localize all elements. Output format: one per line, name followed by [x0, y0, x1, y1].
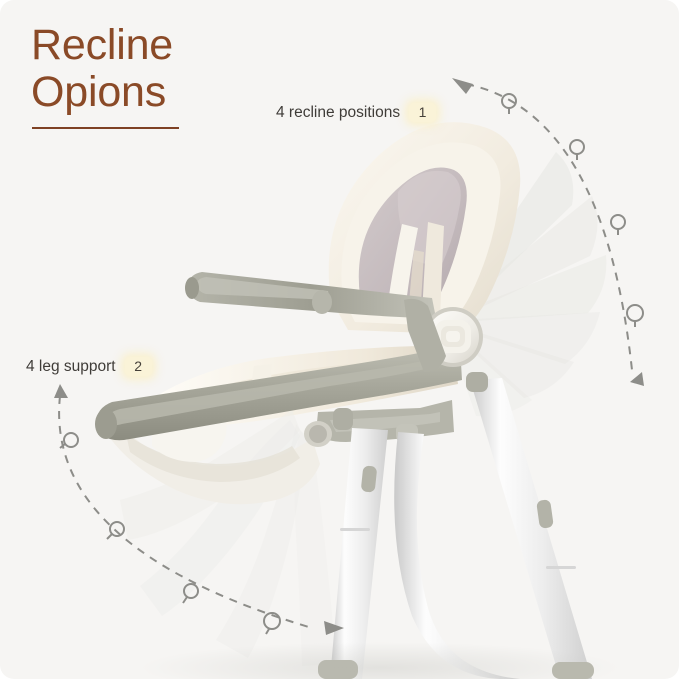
- annotation-recline-positions: 4 recline positions 1: [276, 103, 436, 122]
- annotation-recline-badge: 1: [409, 103, 436, 122]
- annotation-legsupport-label: 4 leg support: [26, 358, 116, 376]
- infographic-canvas: Recline Opions 4 recline positions 1 4 l…: [0, 0, 679, 679]
- annotation-leg-support: 4 leg support 2: [26, 357, 152, 376]
- annotation-legsupport-badge: 2: [125, 357, 152, 376]
- title-underline: [32, 127, 179, 129]
- annotation-recline-label: 4 recline positions: [276, 104, 400, 122]
- page-title: Recline Opions: [31, 22, 361, 116]
- title-line-1: Recline: [31, 22, 361, 69]
